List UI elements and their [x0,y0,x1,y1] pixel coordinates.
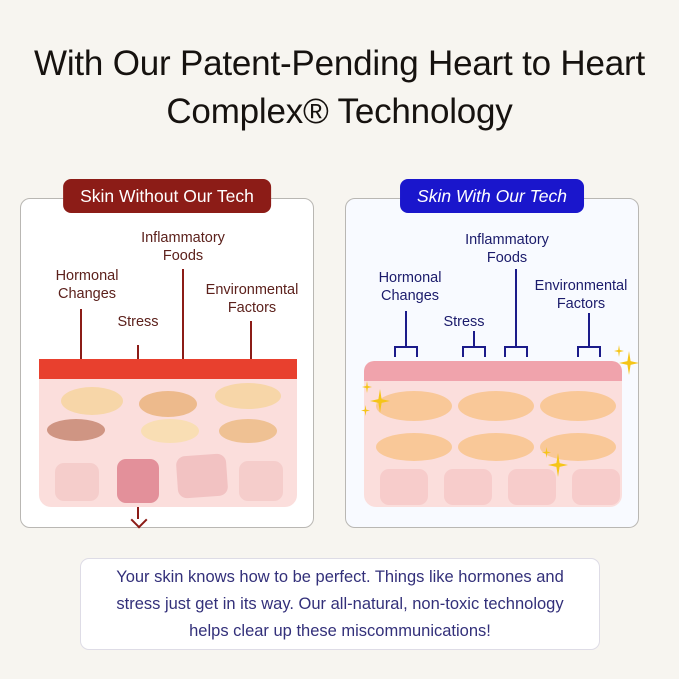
factor-line-2: Foods [127,247,239,265]
block-stop-hormonal-changes [394,346,418,357]
factor-line-2: Changes [39,285,135,303]
skin-cross-section-healthy [364,361,622,507]
skin-bump [53,359,81,363]
sparkle-icon [619,351,639,375]
factor-label-stress-right: Stress [428,313,500,331]
factor-line-1: Environmental [193,281,311,299]
skin-cell [376,433,452,461]
block-stop-environmental-factors [577,346,601,357]
factor-line-2: Foods [450,249,564,267]
skin-bump [225,359,251,363]
skin-square [508,469,556,505]
factor-line-1: Stress [99,313,177,331]
badge-skin-with-tech: Skin With Our Tech [400,179,584,213]
blockline-hormonal-changes [405,311,407,347]
skin-bump [267,359,291,363]
skin-cell-damaged [47,419,105,441]
caption-box: Your skin knows how to be perfect. Thing… [80,558,600,650]
skin-square [380,469,428,505]
factor-label-inflammatory-foods-left: Inflammatory Foods [127,229,239,265]
skin-square [572,469,620,505]
skin-cell [376,391,452,421]
skin-square-shifted [176,453,229,498]
skin-cell [141,419,199,443]
factor-label-environmental-factors-right: Environmental Factors [522,277,640,313]
skin-cell [458,433,534,461]
skin-cell [540,391,616,421]
factor-line-1: Stress [428,313,500,331]
badge-skin-without-tech: Skin Without Our Tech [63,179,271,213]
skin-cell [215,383,281,409]
caption-text: Your skin knows how to be perfect. Thing… [99,564,581,645]
factor-label-inflammatory-foods-right: Inflammatory Foods [450,231,564,267]
skin-square [55,463,99,501]
sparkle-icon [614,345,624,357]
skin-bump [111,359,133,363]
skin-cell [61,387,123,415]
factor-line-1: Hormonal [362,269,458,287]
block-stop-inflammatory-foods [504,346,528,357]
skin-cell [540,433,616,461]
skin-cell [219,419,277,443]
skin-square-damaged [117,459,159,503]
skin-cross-section-damaged [39,359,297,507]
blockline-stress [473,331,475,347]
skin-square [239,461,283,501]
factor-label-environmental-factors-left: Environmental Factors [193,281,311,317]
blockline-environmental-factors [588,313,590,347]
skin-cell [139,391,197,417]
blockline-inflammatory-foods [515,269,517,347]
factor-line-2: Factors [193,299,311,317]
factor-label-hormonal-changes-right: Hormonal Changes [362,269,458,305]
factor-line-2: Factors [522,295,640,313]
factor-line-1: Hormonal [39,267,135,285]
panel-skin-without-tech: Skin Without Our Tech Hormonal Changes S… [20,198,314,528]
skin-cell [458,391,534,421]
factor-label-hormonal-changes-left: Hormonal Changes [39,267,135,303]
block-stop-stress [462,346,486,357]
factor-label-stress-left: Stress [99,313,177,331]
skin-square [444,469,492,505]
factor-line-2: Changes [362,287,458,305]
page-title: With Our Patent-Pending Heart to Heart C… [0,40,679,136]
skin-bump [157,359,191,363]
epidermis-healthy-layer [364,361,622,381]
factor-line-1: Inflammatory [450,231,564,249]
factor-line-1: Environmental [522,277,640,295]
factor-line-1: Inflammatory [127,229,239,247]
panel-skin-with-tech: Skin With Our Tech Hormonal Changes Stre… [345,198,639,528]
